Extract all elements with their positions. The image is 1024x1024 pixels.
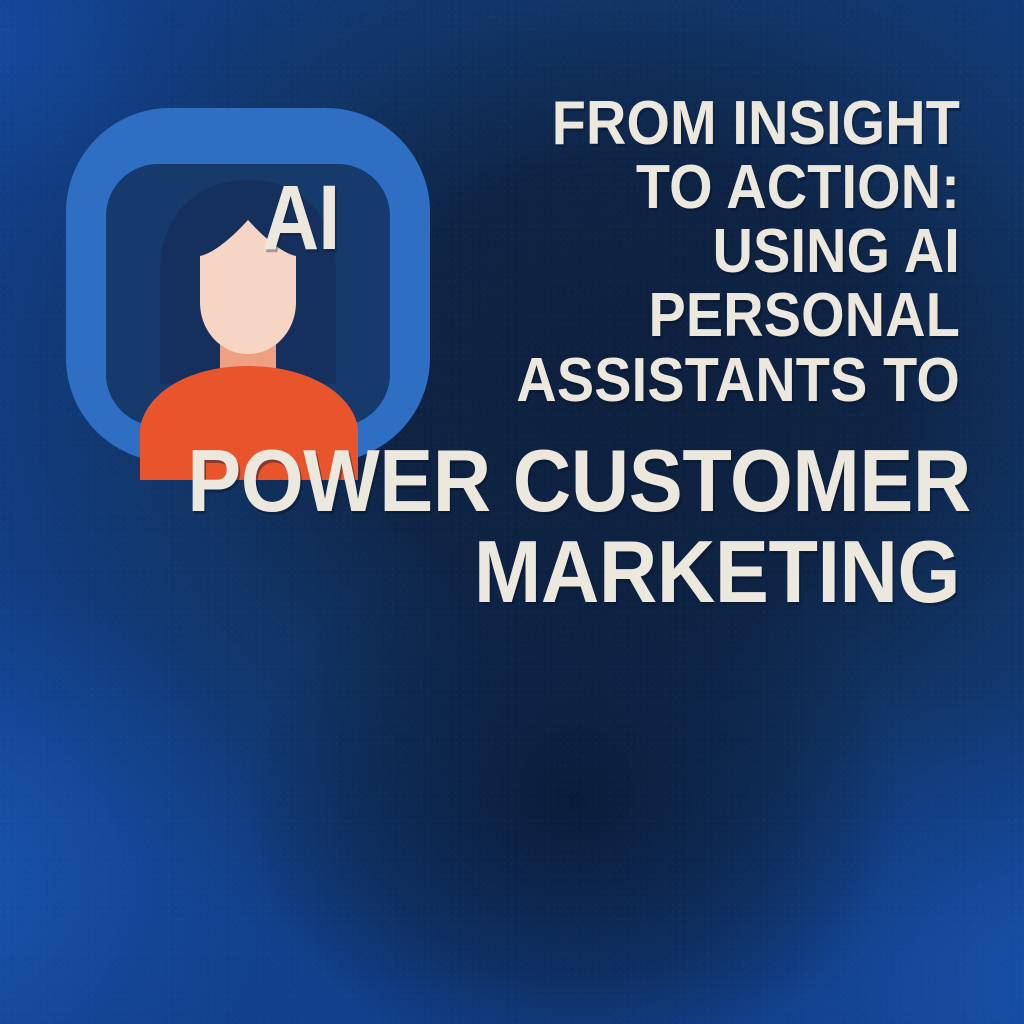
headline-line-6: POWER CUSTOMER [187,435,960,527]
headline-emphasis: POWER CUSTOMER MARKETING [120,435,960,618]
headline-line-7: MARKETING [187,526,960,618]
headline-block: FROM INSIGHT TO ACTION: USING AI PERSONA… [120,92,960,618]
headline-kicker: FROM INSIGHT TO ACTION: USING AI PERSONA… [120,92,960,413]
headline-line-5: ASSISTANTS TO [204,349,960,413]
headline-line-1: FROM INSIGHT [204,92,960,156]
headline-line-3: USING AI [204,220,960,284]
poster-canvas: AI FROM INSIGHT TO ACTION: USING AI PERS… [0,0,1024,1024]
headline-line-2: TO ACTION: [204,156,960,220]
headline-line-4: PERSONAL [204,284,960,348]
